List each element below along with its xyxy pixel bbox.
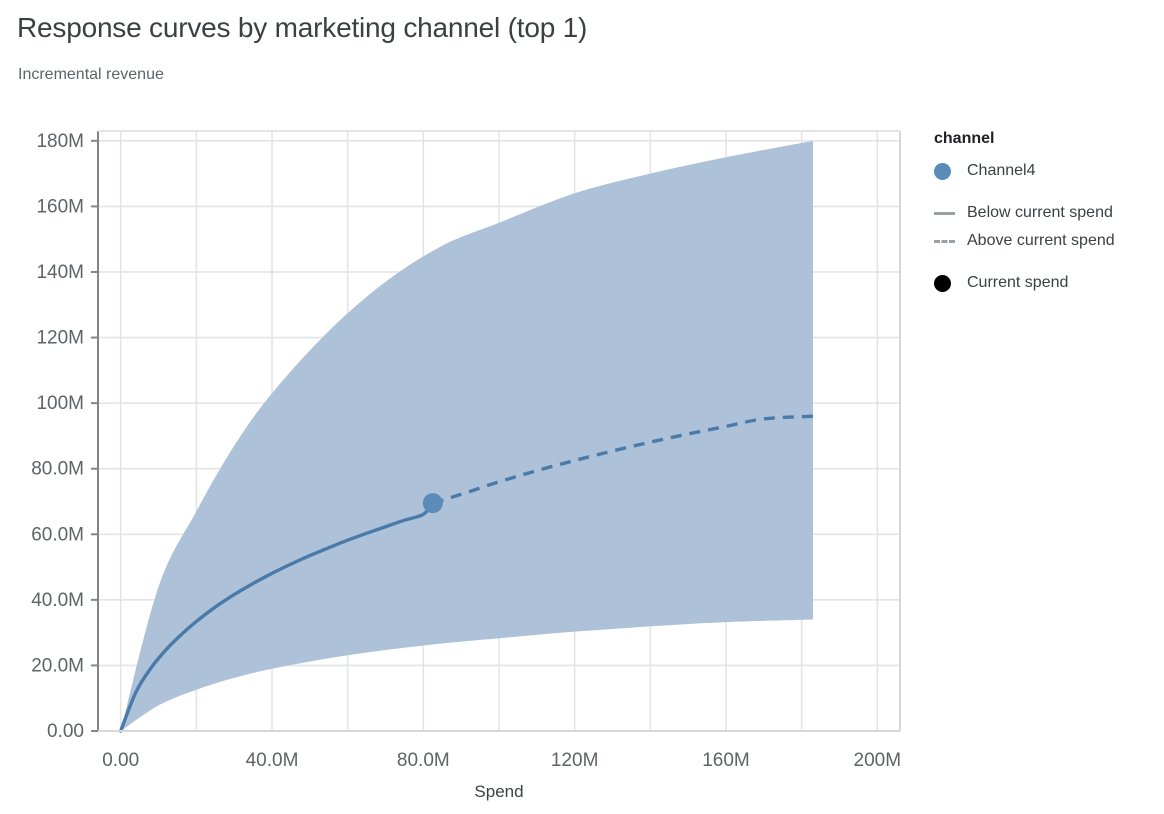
y-axis-ticks: 0.0020.0M40.0M60.0M80.0M100M120M140M160M… (31, 131, 98, 742)
legend-item-label: Above current spend (967, 232, 1115, 250)
x-tick-label: 0.00 (102, 750, 139, 771)
x-tick-label: 120M (551, 750, 599, 771)
legend-item-below-current-spend[interactable]: Below current spend (933, 200, 1158, 226)
x-tick-label: 160M (702, 750, 750, 771)
chart-page: Response curves by marketing channel (to… (0, 0, 1164, 814)
x-tick-label: 200M (854, 750, 902, 771)
y-tick-label: 40.0M (31, 590, 84, 611)
legend-item-current-spend[interactable]: Current spend (933, 270, 1158, 296)
y-tick-label: 60.0M (31, 524, 84, 545)
legend-divider (933, 186, 1158, 200)
legend-item-channel4[interactable]: Channel4 (933, 158, 1158, 184)
x-tick-label: 40.0M (246, 750, 299, 771)
y-tick-label: 180M (36, 131, 84, 152)
legend-title: channel (934, 130, 1158, 148)
y-tick-label: 20.0M (31, 655, 84, 676)
dashed-line-icon (933, 240, 967, 243)
legend-item-label: Channel4 (967, 162, 1036, 180)
y-tick-label: 0.00 (47, 721, 84, 742)
plot-area: 0.0020.0M40.0M60.0M80.0M100M120M140M160M… (0, 0, 1164, 814)
y-tick-label: 140M (36, 262, 84, 283)
current-spend-marker[interactable] (423, 493, 443, 513)
legend-item-above-current-spend[interactable]: Above current spend (933, 228, 1158, 254)
legend-item-label: Current spend (967, 274, 1068, 292)
y-tick-label: 120M (36, 328, 84, 349)
x-axis-title: Spend (474, 782, 523, 801)
legend-divider (933, 256, 1158, 270)
solid-line-icon (933, 212, 967, 215)
response-curve-svg: 0.0020.0M40.0M60.0M80.0M100M120M140M160M… (0, 0, 1164, 814)
y-tick-label: 100M (36, 393, 84, 414)
filled-circle-icon (933, 275, 967, 292)
y-tick-label: 160M (36, 196, 84, 217)
y-tick-label: 80.0M (31, 459, 84, 480)
confidence-band (121, 141, 813, 731)
circle-icon (933, 163, 967, 180)
legend-item-label: Below current spend (967, 204, 1113, 222)
legend: channel Channel4 Below current spend Abo… (933, 130, 1158, 298)
x-tick-label: 80.0M (397, 750, 450, 771)
x-axis-ticks: 0.0040.0M80.0M120M160M200M (102, 750, 901, 771)
